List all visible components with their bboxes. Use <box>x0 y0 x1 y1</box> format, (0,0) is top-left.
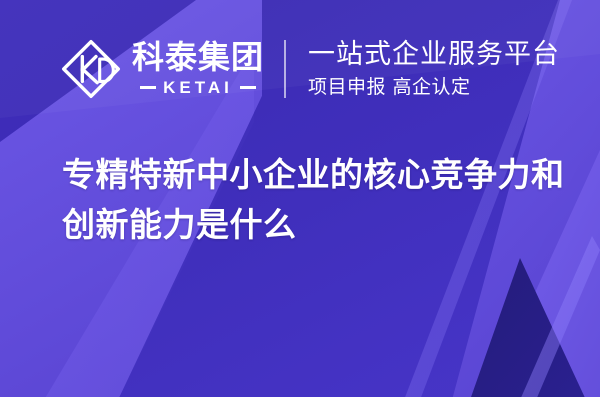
brand-name-chinese: 科泰集团 <box>132 40 264 75</box>
headline: 专精特新中小企业的核心竞争力和 创新能力是什么 <box>62 150 562 250</box>
left-dash-icon <box>140 86 156 89</box>
headline-line-2: 创新能力是什么 <box>62 200 562 250</box>
ketai-diamond-kd-logo-icon <box>60 38 122 100</box>
brand-name-english-row: KETAI <box>132 78 264 98</box>
brand-name-english: KETAI <box>163 78 233 98</box>
tagline-secondary: 项目申报 高企认定 <box>308 75 560 100</box>
header-vertical-divider <box>284 40 286 98</box>
banner-header: 科泰集团 KETAI 一站式企业服务平台 项目申报 高企认定 <box>60 38 560 100</box>
promo-banner: 科泰集团 KETAI 一站式企业服务平台 项目申报 高企认定 专精特新中小企业的… <box>0 0 600 400</box>
brand-logo[interactable]: 科泰集团 KETAI <box>60 38 264 100</box>
brand-wordmark: 科泰集团 KETAI <box>132 40 264 98</box>
headline-line-1: 专精特新中小企业的核心竞争力和 <box>62 150 562 200</box>
tagline-primary: 一站式企业服务平台 <box>308 39 560 71</box>
tagline-block: 一站式企业服务平台 项目申报 高企认定 <box>308 39 560 100</box>
right-dash-icon <box>240 86 256 89</box>
